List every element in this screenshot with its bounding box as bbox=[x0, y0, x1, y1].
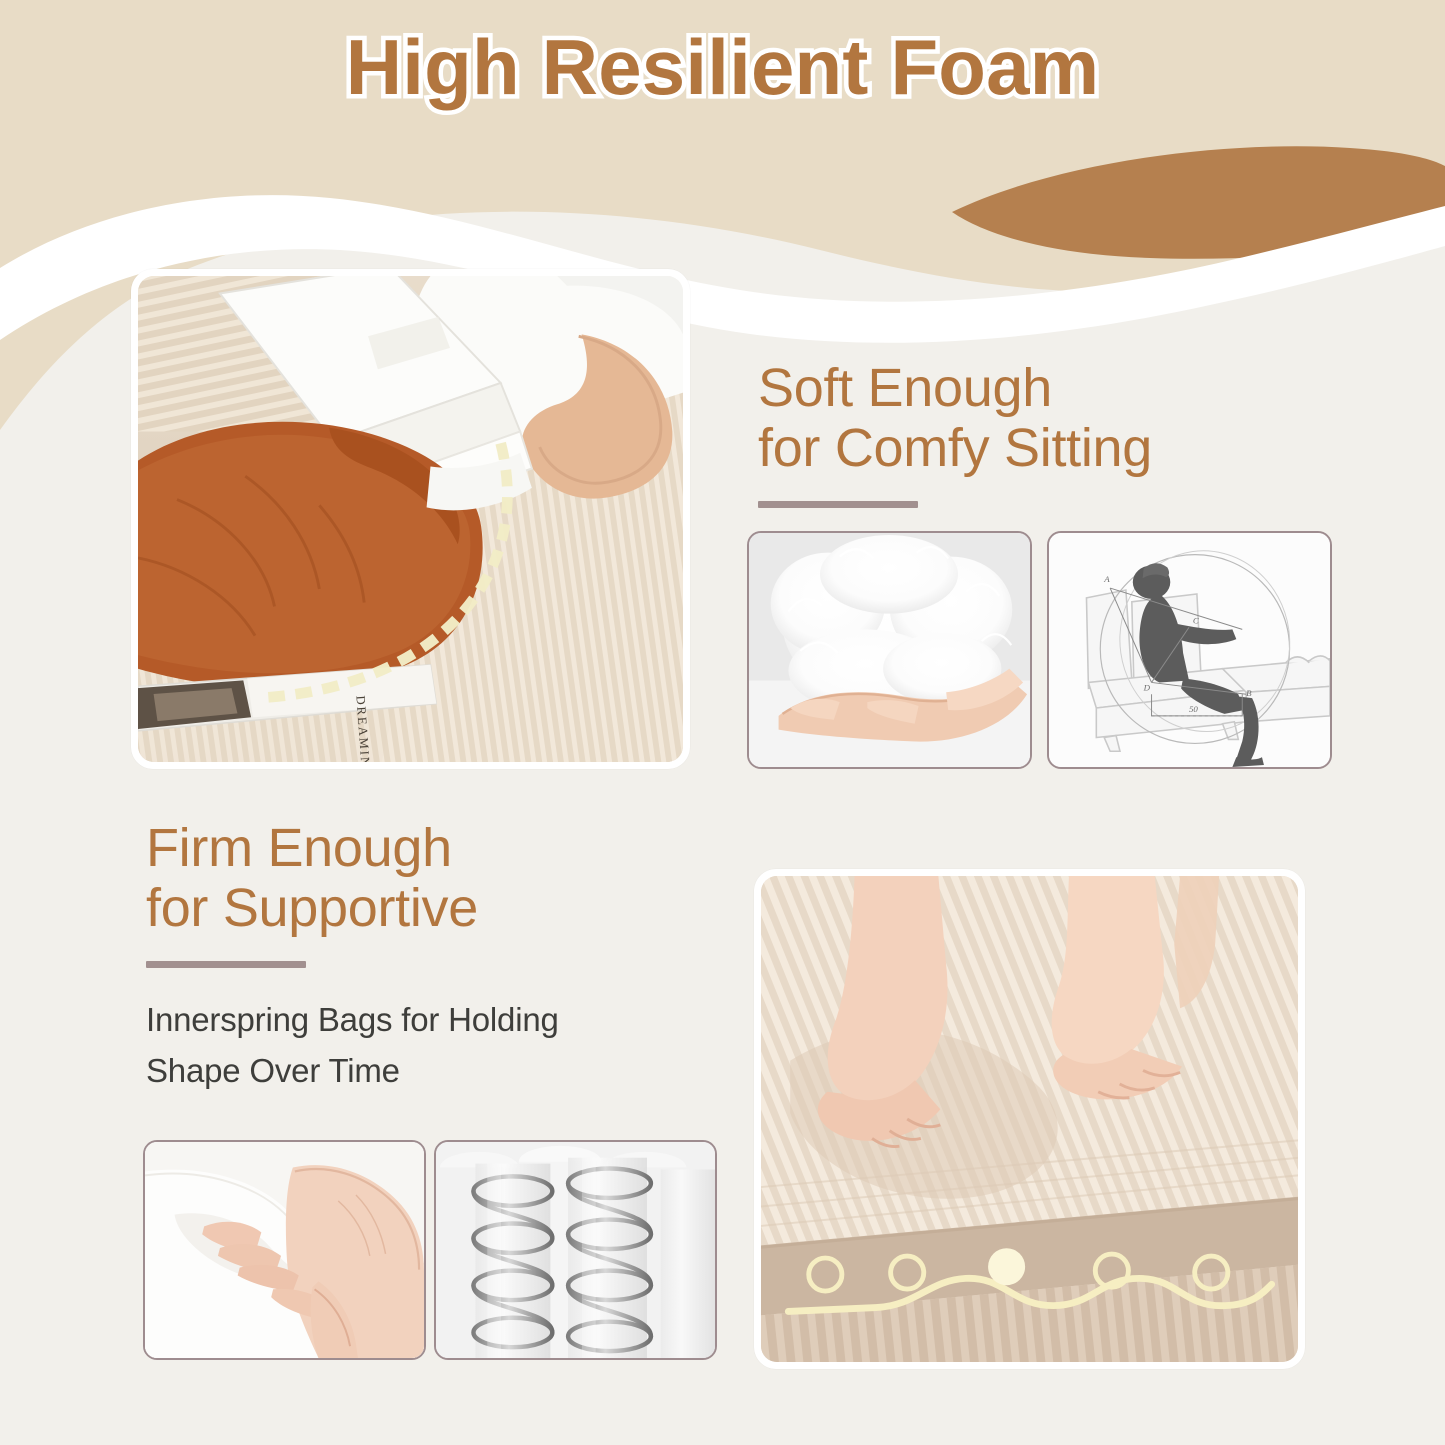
firm-body-text: Innerspring Bags for Holding Shape Over … bbox=[146, 994, 706, 1096]
soft-heading: Soft Enough for Comfy Sitting bbox=[758, 358, 1318, 479]
firm-section-text: Firm Enough for Supportive Innerspring B… bbox=[146, 818, 706, 1096]
firm-divider bbox=[146, 961, 306, 968]
svg-text:C: C bbox=[1193, 615, 1199, 625]
svg-text:A: A bbox=[1103, 574, 1110, 584]
foam-press-card bbox=[143, 1140, 426, 1360]
person-reading-photo-frame: DREAMING bbox=[131, 269, 690, 769]
ergonomic-diagram-card: A B C D 50 bbox=[1047, 531, 1332, 769]
soft-divider bbox=[758, 501, 918, 508]
feet-on-cushion-photo bbox=[761, 876, 1298, 1362]
fiber-cloud bbox=[771, 535, 1013, 712]
person-reading-photo: DREAMING bbox=[138, 276, 683, 762]
svg-text:50: 50 bbox=[1189, 704, 1198, 714]
page-title-wrap: High Resilient Foam bbox=[0, 22, 1445, 113]
pocket-spring-card bbox=[434, 1140, 717, 1360]
svg-text:D: D bbox=[1143, 682, 1151, 692]
soft-section-text: Soft Enough for Comfy Sitting bbox=[758, 358, 1318, 508]
feet-on-cushion-photo-frame bbox=[754, 869, 1305, 1369]
firm-heading: Firm Enough for Supportive bbox=[146, 818, 706, 939]
page-title: High Resilient Foam bbox=[346, 22, 1100, 113]
svg-text:B: B bbox=[1246, 688, 1252, 698]
fiber-fill-card bbox=[747, 531, 1032, 769]
